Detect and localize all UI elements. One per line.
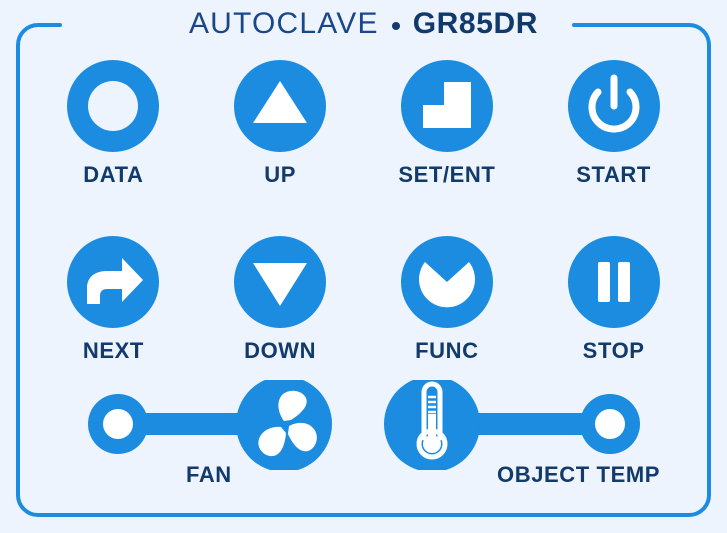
key-start-disc[interactable] xyxy=(568,60,660,152)
temp-connector-graphic xyxy=(370,380,660,470)
key-func[interactable]: FUNC xyxy=(372,236,522,364)
key-next[interactable]: NEXT xyxy=(38,236,188,364)
key-up[interactable]: UP xyxy=(205,60,355,188)
connector-fan[interactable]: FAN xyxy=(88,380,338,475)
key-func-disc[interactable] xyxy=(401,236,493,328)
key-set-ent-disc[interactable] xyxy=(401,60,493,152)
key-up-label: UP xyxy=(264,162,296,188)
key-next-label: NEXT xyxy=(83,338,144,364)
key-func-label: FUNC xyxy=(415,338,479,364)
triangle-up-icon xyxy=(234,60,326,152)
key-down-label: DOWN xyxy=(244,338,316,364)
triangle-down-icon xyxy=(234,236,326,328)
key-down[interactable]: DOWN xyxy=(205,236,355,364)
panel-title: AUTOCLAVE xyxy=(189,7,379,41)
notched-circle-icon xyxy=(401,236,493,328)
connector-fan-label: FAN xyxy=(186,462,232,488)
connector-row: FAN xyxy=(30,380,697,500)
key-data-label: DATA xyxy=(83,162,143,188)
key-up-disc[interactable] xyxy=(234,60,326,152)
ring-icon xyxy=(67,60,159,152)
key-start-label: START xyxy=(576,162,651,188)
key-stop-label: STOP xyxy=(583,338,645,364)
keypad-grid: DATA UP SET/ENT xyxy=(30,56,697,364)
key-set-ent[interactable]: SET/ENT xyxy=(372,60,522,188)
keypad-row-1: DATA UP SET/ENT xyxy=(30,60,697,188)
keypad-row-2: NEXT DOWN FUNC xyxy=(30,236,697,364)
title-separator-dot xyxy=(392,22,400,30)
curved-arrow-right-icon xyxy=(67,236,159,328)
key-down-disc[interactable] xyxy=(234,236,326,328)
power-icon xyxy=(568,60,660,152)
connector-object-temp[interactable]: OBJECT TEMP xyxy=(370,380,660,475)
panel-header: AUTOCLAVE GR85DR xyxy=(0,4,727,44)
autoclave-control-panel: AUTOCLAVE GR85DR DATA UP xyxy=(0,0,727,533)
key-stop[interactable]: STOP xyxy=(539,236,689,364)
key-stop-disc[interactable] xyxy=(568,236,660,328)
fan-connector-graphic xyxy=(88,380,338,470)
connector-object-temp-label: OBJECT TEMP xyxy=(497,462,660,488)
key-next-disc[interactable] xyxy=(67,236,159,328)
key-start[interactable]: START xyxy=(539,60,689,188)
key-set-ent-label: SET/ENT xyxy=(398,162,495,188)
step-block-icon xyxy=(401,60,493,152)
panel-model: GR85DR xyxy=(413,7,538,41)
pause-icon xyxy=(568,236,660,328)
key-data-disc[interactable] xyxy=(67,60,159,152)
key-data[interactable]: DATA xyxy=(38,60,188,188)
